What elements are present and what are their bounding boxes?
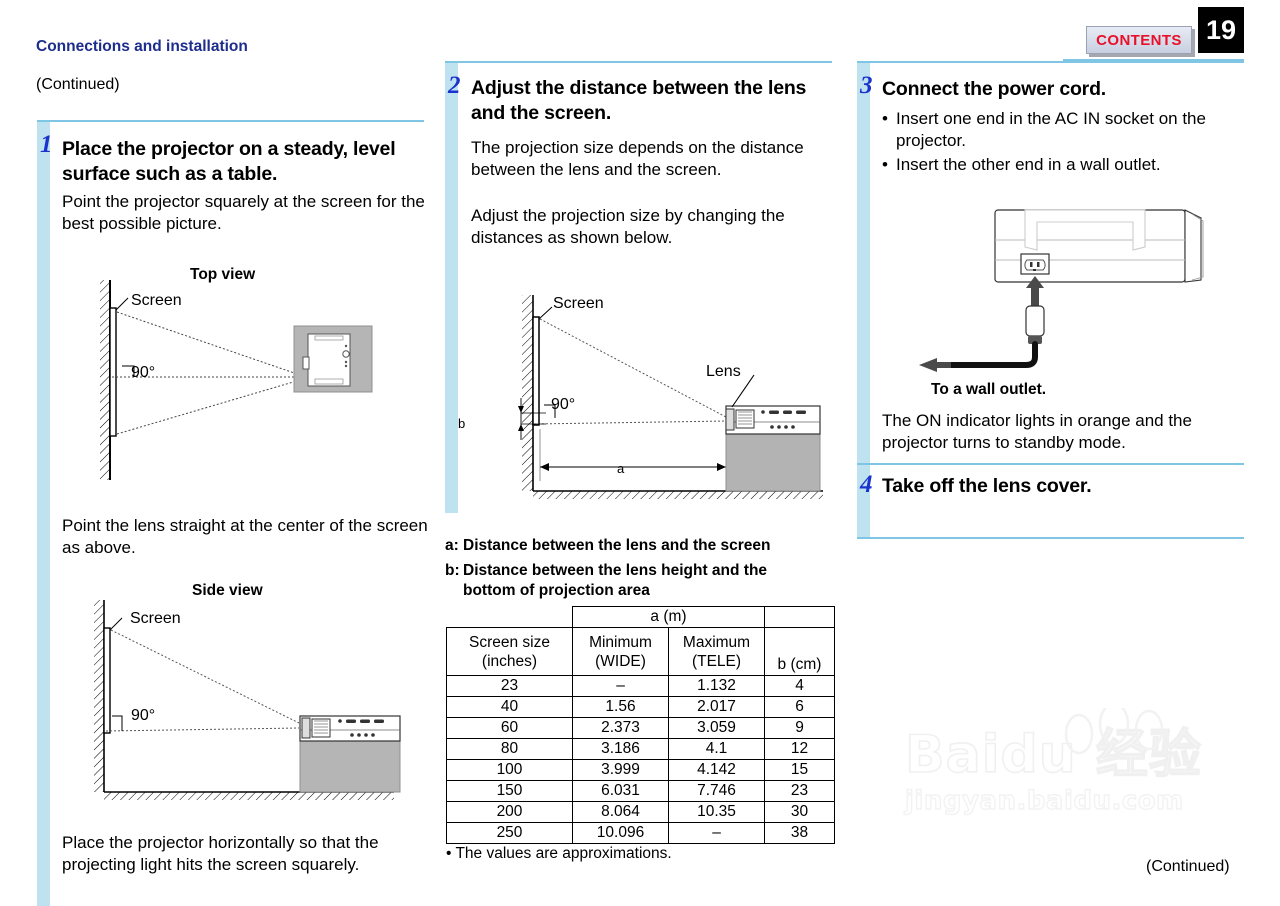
- list-item: • Insert one end in the AC IN socket on …: [882, 108, 1232, 152]
- table-corner-cell: [447, 607, 573, 628]
- cell-max: 7.746: [669, 781, 765, 802]
- watermark-sub-text: jingyan.baidu.com: [905, 786, 1235, 816]
- middle-column-rule: [445, 61, 832, 63]
- cell-min: 8.064: [573, 802, 669, 823]
- step-2-title: Adjust the distance between the lens and…: [471, 76, 831, 126]
- cell-min: 1.56: [573, 697, 669, 718]
- cell-max: 10.35: [669, 802, 765, 823]
- right-column-rule-bottom: [857, 537, 1244, 539]
- step-3-title: Connect the power cord.: [882, 77, 1232, 102]
- step-4-title: Take off the lens cover.: [882, 474, 1232, 499]
- cell-max: 2.017: [669, 697, 765, 718]
- wall-outlet-label: To a wall outlet.: [931, 381, 1046, 399]
- side-view-caption: Side view: [192, 582, 263, 600]
- cell-screen: 80: [447, 739, 573, 760]
- step-3-number: 3: [860, 73, 873, 98]
- table-header-minimum: Minimum (WIDE): [573, 628, 669, 676]
- step-1-body: Point the projector squarely at the scre…: [62, 191, 434, 235]
- side-view-diagram: [62, 578, 437, 808]
- diagram-dimension-b-label: b: [458, 416, 465, 431]
- table-header-minimum-l1: Minimum: [573, 633, 668, 652]
- table-note: • The values are approximations.: [446, 845, 672, 863]
- cell-max: 1.132: [669, 676, 765, 697]
- watermark-main-text: Baidu 经验: [905, 726, 1235, 784]
- table-header-b-cm: b (cm): [765, 628, 835, 676]
- step-3-bullet-list: • Insert one end in the AC IN socket on …: [882, 108, 1232, 178]
- right-column-accent-bar-1: [857, 63, 870, 463]
- cell-screen: 60: [447, 718, 573, 739]
- side-view-screen-label: Screen: [130, 610, 181, 628]
- top-view-caption: Top view: [190, 266, 255, 284]
- cell-screen: 250: [447, 823, 573, 844]
- side-view-svg: [62, 578, 437, 808]
- table-row: 200 8.064 10.35 30: [447, 802, 835, 823]
- step-2-number: 2: [448, 73, 461, 98]
- table-row: 250 10.096 – 38: [447, 823, 835, 844]
- cell-screen: 100: [447, 760, 573, 781]
- table-row: 60 2.373 3.059 9: [447, 718, 835, 739]
- legend-key-b: b:: [445, 561, 463, 601]
- top-view-svg: [62, 262, 434, 512]
- bullet-icon: •: [882, 108, 896, 152]
- cell-min: 6.031: [573, 781, 669, 802]
- middle-column-accent-bar: [445, 63, 458, 513]
- diagram-screen-label: Screen: [553, 295, 604, 313]
- table-header-minimum-l2: (WIDE): [573, 652, 668, 671]
- dimension-legend: a: Distance between the lens and the scr…: [445, 536, 840, 601]
- cell-max: 3.059: [669, 718, 765, 739]
- cell-screen: 150: [447, 781, 573, 802]
- step-2-body-2: Adjust the projection size by changing t…: [471, 205, 833, 249]
- table-row: 150 6.031 7.746 23: [447, 781, 835, 802]
- cell-b: 6: [765, 697, 835, 718]
- table-row: 40 1.56 2.017 6: [447, 697, 835, 718]
- cell-screen: 200: [447, 802, 573, 823]
- page-title: Connections and installation: [36, 38, 248, 56]
- cell-b: 12: [765, 739, 835, 760]
- cell-b: 9: [765, 718, 835, 739]
- cell-min: –: [573, 676, 669, 697]
- power-cord-diagram: [885, 192, 1230, 387]
- legend-key-a: a:: [445, 536, 463, 556]
- cell-screen: 23: [447, 676, 573, 697]
- cell-min: 2.373: [573, 718, 669, 739]
- cell-min: 3.999: [573, 760, 669, 781]
- continued-bottom-label: (Continued): [1146, 858, 1230, 876]
- table-row: 23 – 1.132 4: [447, 676, 835, 697]
- step-4-number: 4: [860, 472, 873, 497]
- table-row: 80 3.186 4.1 12: [447, 739, 835, 760]
- left-mid-text: Point the lens straight at the center of…: [62, 515, 437, 559]
- table-header-row-2: Screen size (inches) Minimum (WIDE) Maxi…: [447, 628, 835, 676]
- projection-distance-svg: [464, 285, 839, 510]
- step-3-note: The ON indicator lights in orange and th…: [882, 410, 1242, 454]
- cell-b: 38: [765, 823, 835, 844]
- list-item-text: Insert one end in the AC IN socket on th…: [896, 108, 1232, 152]
- table-header-row-1: a (m): [447, 607, 835, 628]
- projection-distance-table-wrap: a (m) Screen size (inches) Minimum (WIDE…: [446, 606, 835, 844]
- top-view-angle-label: 90°: [131, 364, 155, 382]
- contents-label: CONTENTS: [1096, 32, 1182, 49]
- cell-min: 3.186: [573, 739, 669, 760]
- diagram-angle-label: 90°: [551, 396, 575, 414]
- top-view-screen-label: Screen: [131, 292, 182, 310]
- cell-b: 30: [765, 802, 835, 823]
- diagram-lens-label: Lens: [706, 363, 741, 381]
- page-number: 19: [1206, 15, 1236, 46]
- power-cord-svg: [885, 192, 1230, 387]
- right-column-rule-mid: [857, 463, 1244, 465]
- paw-icon: [1057, 708, 1187, 778]
- table-header-screen-size-l2: (inches): [447, 652, 572, 671]
- table-header-spacer: [765, 607, 835, 628]
- cell-max: 4.1: [669, 739, 765, 760]
- left-bottom-text: Place the projector horizontally so that…: [62, 832, 442, 876]
- table-header-maximum-l1: Maximum: [669, 633, 764, 652]
- cell-screen: 40: [447, 697, 573, 718]
- step-1-number: 1: [40, 132, 53, 157]
- cell-b: 15: [765, 760, 835, 781]
- page-number-box: 19: [1198, 7, 1244, 53]
- left-column-accent-bar: [37, 122, 50, 906]
- baidu-watermark: Baidu 经验 jingyan.baidu.com: [905, 726, 1235, 866]
- contents-button[interactable]: CONTENTS: [1086, 26, 1192, 54]
- list-item: • Insert the other end in a wall outlet.: [882, 154, 1232, 176]
- step-2-body-1: The projection size depends on the dista…: [471, 137, 816, 181]
- side-view-angle-label: 90°: [131, 707, 155, 725]
- top-view-diagram: [62, 262, 434, 512]
- legend-text-b: Distance between the lens height and the…: [463, 561, 818, 601]
- table-header-screen-size: Screen size (inches): [447, 628, 573, 676]
- bullet-icon: •: [882, 154, 896, 176]
- cell-b: 4: [765, 676, 835, 697]
- step-1-title: Place the projector on a steady, level s…: [62, 137, 432, 187]
- manual-page: CONTENTS 19 Connections and installation…: [0, 0, 1280, 906]
- projection-distance-diagram: [464, 285, 839, 510]
- legend-item-b: b: Distance between the lens height and …: [445, 561, 840, 601]
- legend-text-a: Distance between the lens and the screen: [463, 536, 771, 556]
- table-row: 100 3.999 4.142 15: [447, 760, 835, 781]
- right-column-rule-top: [857, 61, 1244, 63]
- table-header-maximum: Maximum (TELE): [669, 628, 765, 676]
- list-item-text: Insert the other end in a wall outlet.: [896, 154, 1232, 176]
- cell-max: 4.142: [669, 760, 765, 781]
- continued-top-label: (Continued): [36, 76, 120, 94]
- projection-distance-table: a (m) Screen size (inches) Minimum (WIDE…: [446, 606, 835, 844]
- cell-min: 10.096: [573, 823, 669, 844]
- cell-max: –: [669, 823, 765, 844]
- table-header-screen-size-l1: Screen size: [447, 633, 572, 652]
- legend-item-a: a: Distance between the lens and the scr…: [445, 536, 840, 556]
- table-header-a-m: a (m): [573, 607, 765, 628]
- cell-b: 23: [765, 781, 835, 802]
- left-column-rule: [37, 120, 424, 122]
- table-header-maximum-l2: (TELE): [669, 652, 764, 671]
- diagram-dimension-a-label: a: [617, 461, 624, 476]
